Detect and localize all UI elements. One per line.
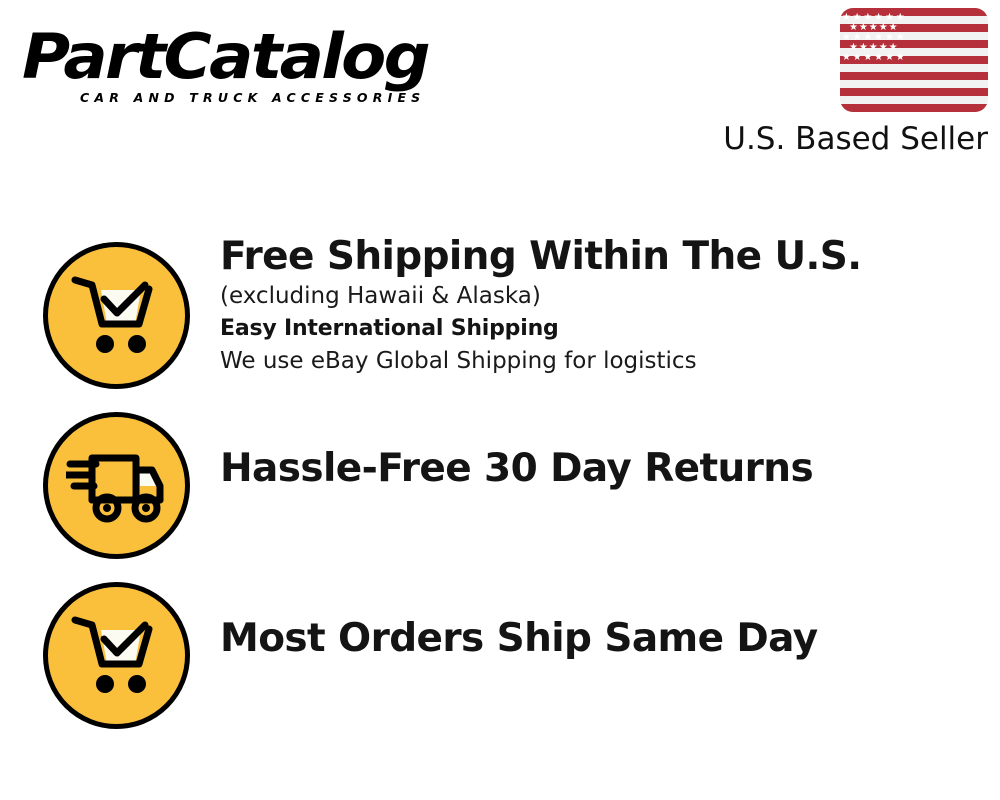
brand-logo[interactable]: PartCatalog CAR AND TRUCK ACCESSORIES	[22, 26, 492, 116]
feature-text: Free Shipping Within The U.S. (excluding…	[190, 228, 1000, 377]
cart-check-icon	[43, 582, 190, 729]
feature-note: We use eBay Global Shipping for logistic…	[220, 346, 1000, 377]
logo-wordmark: PartCatalog	[22, 26, 520, 88]
feature-title: Most Orders Ship Same Day	[220, 616, 1000, 662]
feature-row: Hassle-Free 30 Day Returns	[0, 400, 1000, 572]
feature-text: Most Orders Ship Same Day	[190, 572, 1000, 662]
feature-title: Free Shipping Within The U.S.	[220, 234, 1000, 280]
page-header: PartCatalog CAR AND TRUCK ACCESSORIES	[0, 0, 1000, 170]
feature-text: Hassle-Free 30 Day Returns	[190, 400, 1000, 492]
feature-subtitle: (excluding Hawaii & Alaska)	[220, 280, 1000, 312]
feature-list: Free Shipping Within The U.S. (excluding…	[0, 228, 1000, 732]
cart-check-icon	[43, 242, 190, 389]
logo-tagline: CAR AND TRUCK ACCESSORIES	[80, 90, 425, 105]
feature-title: Hassle-Free 30 Day Returns	[220, 446, 1000, 492]
delivery-truck-icon	[43, 412, 190, 559]
feature-row: Most Orders Ship Same Day	[0, 572, 1000, 732]
us-based-seller-block: ★★★★★★ ★★★★★ ★★★★★★ ★★★★★ ★★★★★★ U.S. Ba…	[718, 8, 988, 157]
us-flag-icon: ★★★★★★ ★★★★★ ★★★★★★ ★★★★★ ★★★★★★	[840, 8, 988, 112]
feature-strong-line: Easy International Shipping	[220, 312, 1000, 346]
us-based-seller-label: U.S. Based Seller	[718, 121, 988, 157]
flag-canton: ★★★★★★ ★★★★★ ★★★★★★ ★★★★★ ★★★★★★	[840, 8, 907, 66]
feature-row: Free Shipping Within The U.S. (excluding…	[0, 228, 1000, 400]
